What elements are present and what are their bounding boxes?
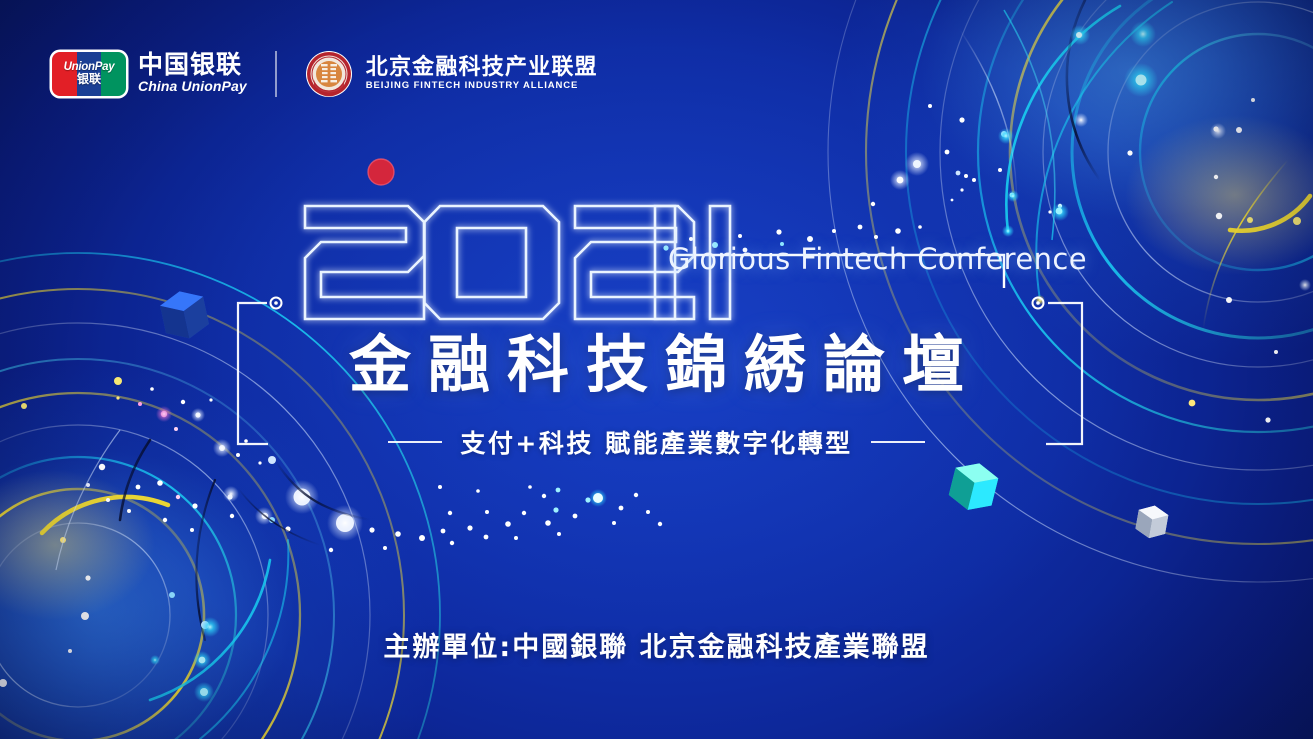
red-dot-accent xyxy=(368,159,394,185)
header-logos: UnionPay 银联 中国银联 China UnionPay xyxy=(52,50,598,98)
tagline-rule-right xyxy=(871,441,925,443)
alliance-seal-icon xyxy=(305,50,353,98)
particle-sweep-trail xyxy=(86,460,662,552)
english-subtitle: Glorious Fintech Conference xyxy=(668,242,1087,276)
tagline-text: 支付+科技 賦能產業數字化轉型 xyxy=(460,424,852,460)
tagline-row: 支付+科技 賦能產業數字化轉型 xyxy=(0,424,1313,460)
year-row: Glorious Fintech Conference xyxy=(0,186,1313,304)
tagline-rule-left xyxy=(388,441,442,443)
cube-teal-right xyxy=(946,458,1000,515)
alliance-name-cn: 北京金融科技产业联盟 xyxy=(366,55,598,79)
unionpay-card-icon: UnionPay 银联 xyxy=(52,52,126,96)
arc-group-bottom-left xyxy=(0,253,440,739)
cube-white-right xyxy=(1134,503,1169,541)
glow-bloom-bottom-left xyxy=(0,450,295,739)
alliance-logo: 北京金融科技产业联盟 BEIJING FINTECH INDUSTRY ALLI… xyxy=(305,50,598,98)
unionpay-name-en: China UnionPay xyxy=(138,78,247,96)
unionpay-wordmark: 中国银联 China UnionPay xyxy=(138,52,247,96)
conference-poster: UnionPay 银联 中国银联 China UnionPay xyxy=(0,0,1313,739)
unionpay-name-cn: 中国银联 xyxy=(138,52,247,78)
alliance-name-en: BEIJING FINTECH INDUSTRY ALLIANCE xyxy=(366,79,598,93)
unionpay-logo: UnionPay 银联 中国银联 China UnionPay xyxy=(52,52,247,96)
unionpay-card-label-cn: 银联 xyxy=(77,73,101,86)
organizer-line: 主辦單位:中國銀聯 北京金融科技產業聯盟 xyxy=(0,625,1313,664)
center-content: Glorious Fintech Conference 金融科技錦綉論壇 支付+… xyxy=(0,186,1313,304)
logo-divider xyxy=(275,51,277,97)
glow-bloom-yellow-2 xyxy=(0,470,155,620)
main-chinese-title: 金融科技錦綉論壇 xyxy=(0,334,1313,396)
alliance-wordmark: 北京金融科技产业联盟 BEIJING FINTECH INDUSTRY ALLI… xyxy=(366,55,598,93)
